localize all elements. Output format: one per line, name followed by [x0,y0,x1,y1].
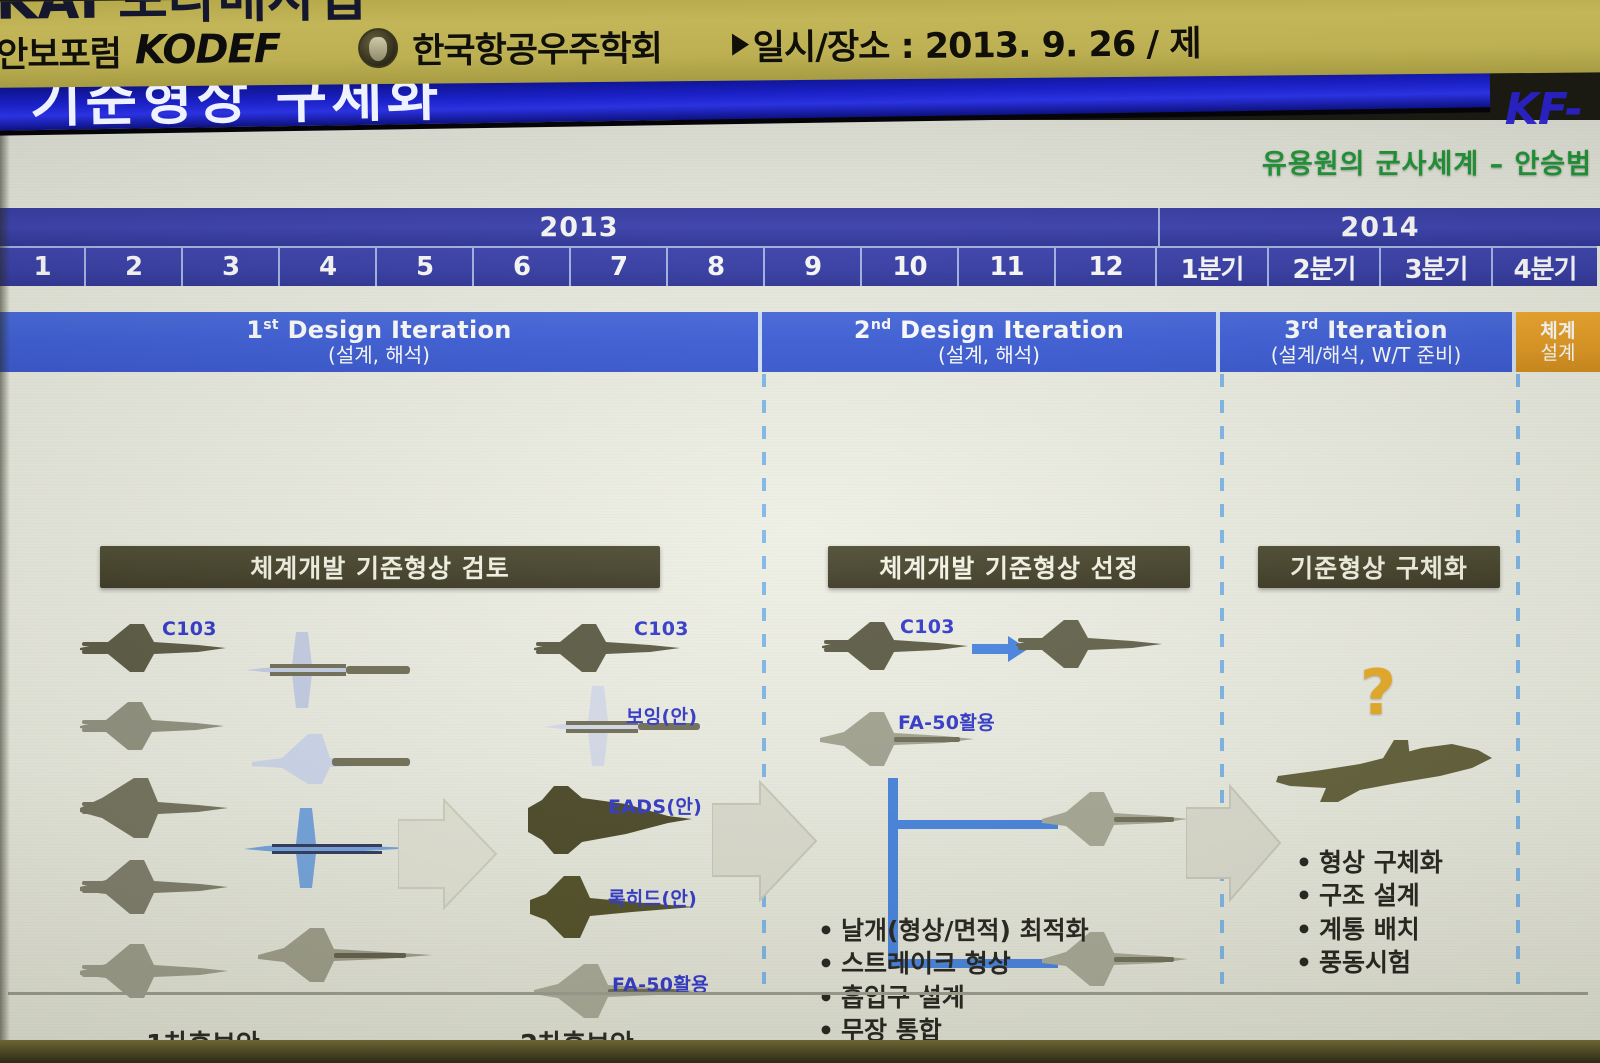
timeline-cell-1[interactable]: 1 [0,246,86,286]
bullet-list-detailing: 형상 구체화 구조 설계 계통 배치 풍동시험 [1296,846,1443,979]
iteration-1-suffix: st [263,317,279,333]
question-mark-icon: ? [1360,656,1396,729]
aircraft-label-c2-boeing: 보잉(안) [626,702,697,729]
iteration-2[interactable]: 2nd Design Iteration (설계, 해석) [762,312,1220,372]
divider-dashed-3 [1516,374,1520,984]
bullet-item: 구조 설계 [1296,879,1443,912]
aircraft-label-c2-lockheed: 록히드(안) [608,884,697,911]
aircraft-c3-a2 [1014,610,1164,678]
header-box-selection: 체계개발 기준형상 선정 [828,546,1190,588]
banner-datetime-label: 일시/장소 : 2013. 9. 26 / 제 [753,15,1201,70]
slide-body: 유용원의 군사세계 – 안승범 2013 2014 1 2 3 4 5 6 7 … [0,120,1600,1040]
iteration-1[interactable]: 1st Design Iteration (설계, 해석) [0,312,762,372]
timeline-cell-5[interactable]: 5 [377,246,474,286]
iteration-2-title: 2nd Design Iteration [854,316,1124,344]
iteration-3-label: Iteration [1327,316,1448,344]
bullet-item: 풍동시험 [1296,946,1443,979]
timeline-cell-3[interactable]: 3 [183,246,280,286]
aircraft-c1-b4 [256,920,436,990]
iteration-2-label: Design Iteration [900,316,1124,344]
banner-society-label: 한국항공우주학회 [412,20,662,73]
bullet-item: 흡입구 설계 [818,981,1089,1014]
timeline-year-2013: 2013 [0,208,1160,246]
iteration-2-sub: (설계, 해석) [938,344,1040,368]
aircraft-label-c2-c103: C103 [634,618,689,640]
bullet-item: 날개(형상/면적) 최적화 [818,914,1089,947]
iteration-2-ordinal: 2 [854,316,871,344]
iteration-band: 1st Design Iteration (설계, 해석) 2nd Design… [0,312,1600,372]
aircraft-label-c3-c103: C103 [900,616,955,638]
iteration-1-label: Design Iteration [288,316,512,344]
aircraft-label-c3-fa50: FA-50활용 [898,708,995,735]
aircraft-c3-a4 [1040,784,1190,854]
header-box-review: 체계개발 기준형상 검토 [100,546,660,588]
kf-watermark-text: KF- [1505,84,1582,135]
timeline-cell-6[interactable]: 6 [474,246,571,286]
kodef-seal-icon [358,28,398,68]
arrow-chevron-1 [398,794,498,914]
iteration-1-sub: (설계, 해석) [328,344,430,368]
footer-dark-strip [0,1040,1600,1063]
watermark-text: 유용원의 군사세계 – 안승범 [1262,142,1592,181]
banner-cut-title: KAI 보라매사업 [0,0,1600,2]
banner-forum-label: 안보포럼 [0,25,121,77]
iteration-4-system-design[interactable]: 체계 설계 [1516,312,1600,372]
timeline-cell-4[interactable]: 4 [280,246,377,286]
left-edge-shadow [0,120,10,1040]
timeline-cell-2[interactable]: 2 [86,246,183,286]
timeline-cell-8[interactable]: 8 [668,246,765,286]
content-area: 체계개발 기준형상 검토 체계개발 기준형상 선정 기준형상 구체화 C103 [0,374,1600,984]
timeline-cell-q3[interactable]: 3분기 [1381,246,1493,286]
iteration-4-title: 체계 [1540,320,1576,342]
timeline-cell-q1[interactable]: 1분기 [1157,246,1269,286]
bullet-item: 스트레이크 형상 [818,947,1089,980]
iteration-3-ordinal: 3 [1284,316,1301,344]
timeline-cell-11[interactable]: 11 [959,246,1056,286]
timeline: 2013 2014 1 2 3 4 5 6 7 8 9 10 11 12 1분기… [0,208,1600,286]
timeline-cell-10[interactable]: 10 [862,246,959,286]
arrow-chevron-2 [712,776,818,906]
iteration-1-title: 1st Design Iteration [246,316,511,344]
aircraft-label-c2-eads: EADS(안) [608,792,702,819]
aircraft-c1-b2 [238,728,428,790]
triangle-bullet-icon [732,34,749,56]
bullet-item: 형상 구체화 [1296,846,1443,879]
iteration-3-suffix: rd [1301,317,1319,333]
aircraft-c1-a4 [78,852,230,922]
aircraft-c1-a3 [78,772,230,844]
screenshot-root: 유용원의 군사세계 – 안승범 2013 2014 1 2 3 4 5 6 7 … [0,0,1600,1063]
iteration-3[interactable]: 3rd Iteration (설계/해석, W/T 준비) [1220,312,1516,372]
aircraft-c1-b1 [240,628,430,712]
timeline-year-2014: 2014 [1160,208,1600,246]
iteration-1-ordinal: 1 [246,316,263,344]
timeline-months-row: 1 2 3 4 5 6 7 8 9 10 11 12 1분기 2분기 3분기 4… [0,246,1600,286]
slide-baseline-rule [8,992,1588,995]
iteration-2-suffix: nd [871,317,892,333]
aircraft-c4-a1 [1272,728,1494,814]
aircraft-c2-a3 [526,778,696,862]
header-box-detailing: 기준형상 구체화 [1258,546,1500,588]
kodef-logo-text: KODEF [135,26,281,73]
conference-banner: KAI 보라매사업 안보포럼 KODEF 한국항공우주학회 일시/장소 : 20… [0,0,1600,88]
aircraft-c1-a2 [78,692,228,760]
iteration-3-sub: (설계/해석, W/T 준비) [1271,344,1462,368]
arrow-chevron-3 [1186,782,1282,904]
timeline-cell-7[interactable]: 7 [571,246,668,286]
aircraft-label-c1-c103: C103 [162,618,217,640]
aircraft-c1-a5 [78,936,230,1006]
bullet-item: 계통 배치 [1296,913,1443,946]
timeline-cell-q2[interactable]: 2분기 [1269,246,1381,286]
iteration-4-sub: 설계 [1541,342,1576,364]
timeline-years-row: 2013 2014 [0,208,1600,246]
bracket-branch-top [888,820,1058,829]
iteration-3-title: 3rd Iteration [1284,316,1448,344]
timeline-cell-9[interactable]: 9 [765,246,862,286]
timeline-cell-12[interactable]: 12 [1056,246,1157,286]
timeline-cell-q4[interactable]: 4분기 [1493,246,1597,286]
